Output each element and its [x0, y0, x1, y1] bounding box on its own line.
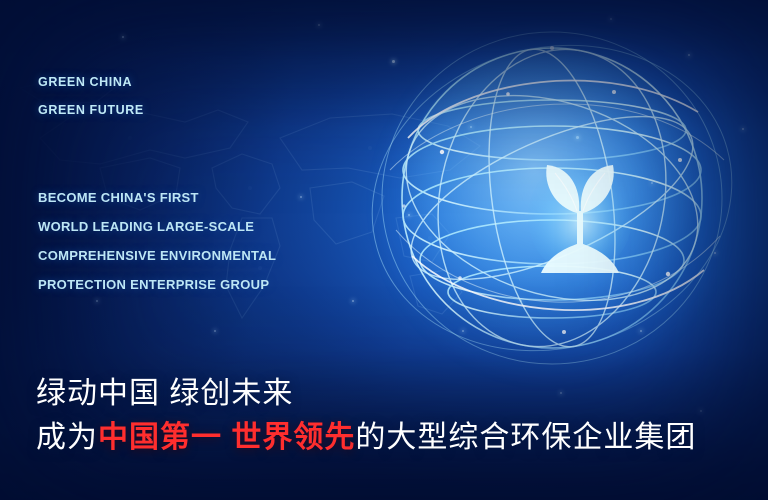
english-main-line-2: WORLD LEADING LARGE-SCALE [38, 212, 276, 241]
english-main-slogan: BECOME CHINA'S FIRST WORLD LEADING LARGE… [38, 183, 276, 299]
chinese-headline-line-2: 成为中国第一 世界领先的大型综合环保企业集团 [36, 412, 696, 456]
headline-suffix: 的大型综合环保企业集团 [355, 421, 696, 454]
english-top-line-2: GREEN FUTURE [38, 96, 144, 124]
english-main-line-4: PROTECTION ENTERPRISE GROUP [38, 270, 276, 299]
hero-banner: GREEN CHINA GREEN FUTURE BECOME CHINA'S … [0, 0, 768, 500]
headline-highlight: 中国第一 世界领先 [98, 421, 355, 454]
english-top-line-1: GREEN CHINA [38, 68, 144, 96]
english-main-line-3: COMPREHENSIVE ENVIRONMENTAL [38, 241, 276, 270]
english-main-line-1: BECOME CHINA'S FIRST [38, 183, 276, 212]
chinese-headline-line-1: 绿动中国 绿创未来 [36, 368, 293, 412]
headline-prefix: 成为 [36, 421, 98, 454]
english-top-slogan: GREEN CHINA GREEN FUTURE [38, 68, 144, 124]
